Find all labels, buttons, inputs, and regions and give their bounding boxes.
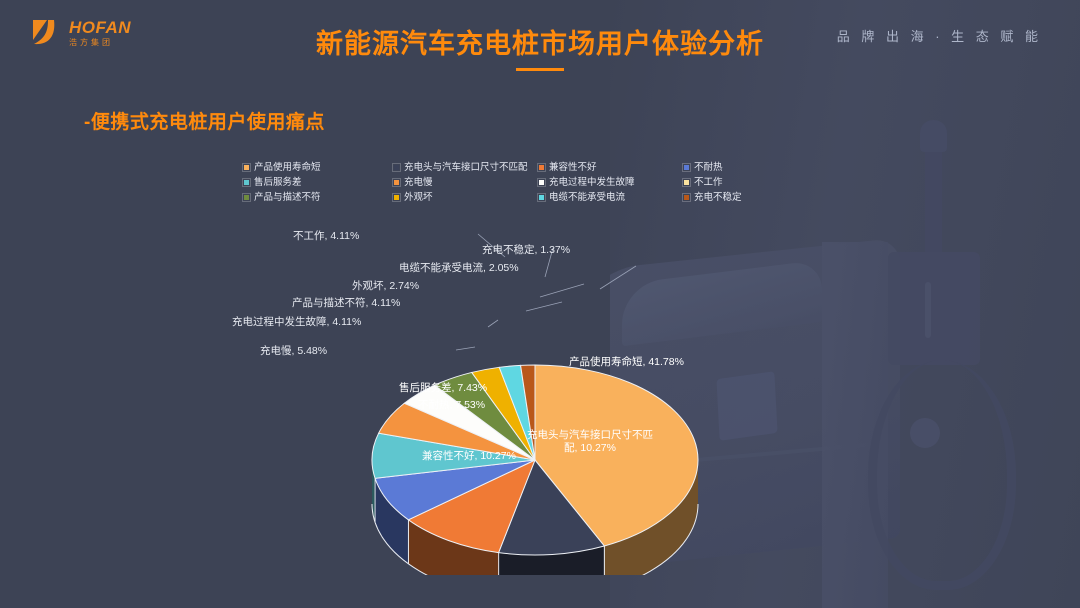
pie-slice-wall (384, 496, 385, 542)
pie-slice-wall (428, 532, 430, 575)
legend-item-label: 外观坏 (404, 190, 433, 205)
pie-slice-wall (439, 537, 441, 575)
legend-item[interactable]: 产品使用寿命短 (243, 160, 393, 175)
pie-slice-wall (619, 541, 621, 575)
legend-swatch-icon (683, 164, 690, 171)
label-chongdiantou-line1: 充电头与汽车接口尺寸不匹 (527, 429, 653, 441)
pie-slice-wall (493, 552, 496, 575)
pie-slice-wall (400, 513, 402, 558)
pie-slice-wall (449, 541, 451, 575)
legend-swatch-icon (538, 179, 545, 186)
pie-slice-wall (387, 500, 388, 545)
leader-line (600, 266, 636, 289)
pie-slice-wall (673, 509, 674, 554)
label-chongdiantou-line2: 配, 10.27% (564, 442, 616, 454)
pie-slice-wall (640, 532, 642, 575)
pie-slice-wall (533, 555, 536, 575)
pie-slice-wall (631, 536, 633, 575)
pie-slice-wall (558, 554, 561, 575)
legend-item-label: 不耐热 (694, 160, 723, 175)
legend-swatch-icon (538, 164, 545, 171)
pie-slice-wall (609, 544, 612, 575)
pie-slice-wall (395, 509, 396, 554)
pie-slice-wall (456, 543, 459, 575)
pie-slice-wall (687, 492, 688, 538)
pie-slice-wall (555, 554, 558, 575)
pie-slice-wall (444, 539, 446, 575)
pie-slice-wall (477, 549, 480, 575)
legend-item[interactable]: 产品与描述不符 (243, 190, 393, 205)
pie-slice-wall (665, 516, 667, 561)
pie-slice-wall (490, 551, 493, 575)
legend-item[interactable]: 充电慢 (393, 175, 538, 190)
background-charger-unit (888, 252, 980, 365)
pie-slice-wall (541, 555, 544, 575)
pie-slice-wall (578, 551, 581, 575)
pie-slice-wall (564, 553, 567, 575)
pie-slice-wall (412, 522, 414, 567)
pie-slice-wall (394, 508, 395, 553)
leader-line (456, 347, 475, 350)
legend-item-label: 充电过程中发生故障 (549, 175, 635, 190)
brand-tagline: 品 牌 出 海 · 生 态 赋 能 (837, 26, 1042, 45)
pie-slice-wall (513, 554, 516, 575)
pie-slice-wall (454, 542, 456, 575)
pie-slice-wall (638, 533, 640, 575)
pie-slice-wall (682, 500, 683, 545)
pie-slice-wall (685, 496, 686, 542)
slide-root: HOFAN 浩方集团 新能源汽车充电桩市场用户体验分析 品 牌 出 海 · 生 … (0, 0, 1080, 608)
pie-slice-wall (692, 485, 693, 531)
pie-slice-wall (621, 540, 623, 575)
label-shouhou: 售后服务差, 7.43% (399, 382, 487, 395)
pie-slice-wall (678, 505, 679, 550)
pie-slice-wall (589, 549, 592, 575)
pie-slice-wall (380, 489, 381, 535)
pie-slice-wall (383, 494, 384, 540)
pie-slice-wall (561, 554, 564, 575)
pie-slice-wall (518, 555, 521, 575)
pie-slice-wall (464, 545, 467, 575)
label-miaoshu: 产品与描述不符, 4.11% (292, 297, 400, 310)
pie-slice-wall (624, 539, 626, 575)
pie-slice-wall (381, 491, 382, 537)
pie-slice-wall (580, 551, 583, 575)
pie-slice-wall (606, 545, 609, 575)
pie-slice-wall (410, 521, 412, 566)
pie-slice-wall (583, 550, 586, 575)
pie-slice-wall (377, 483, 378, 529)
pie-chart-svg (300, 215, 770, 575)
pie-slice-wall (680, 502, 681, 547)
pie-slice-wall (689, 489, 690, 535)
pie-slice-wall (567, 553, 570, 575)
pie-slice-wall (385, 497, 386, 543)
legend-item-label: 充电头与汽车接口尺寸不匹配 (404, 160, 528, 175)
pie-slice-wall (635, 534, 637, 575)
pie-slice-wall (502, 553, 505, 575)
legend-item[interactable]: 售后服务差 (243, 175, 393, 190)
pie-slice-wall (386, 499, 387, 545)
label-buhgongzuo: 不工作, 4.11% (293, 230, 359, 243)
pie-slice-wall (521, 555, 524, 575)
pie-slice-wall (504, 553, 507, 575)
pie-slice-wall (376, 481, 377, 527)
legend-item-label: 不工作 (694, 175, 723, 190)
pie-slice-wall (612, 543, 615, 575)
background-cable-connector (910, 418, 940, 448)
pie-slice-wall (692, 483, 693, 529)
pie-slice-wall (646, 528, 648, 573)
pie-slice-wall (499, 553, 502, 575)
pie-slice-wall (547, 555, 550, 575)
label-bunaire: 不耐热, 7.53% (418, 399, 485, 412)
pie-slice-wall (669, 513, 671, 558)
pie-slice-wall (416, 525, 418, 570)
pie-slice-wall (466, 546, 469, 575)
pie-slice-wall (389, 502, 390, 547)
pie-slice-wall (524, 555, 527, 575)
label-waiguanhuai: 外观坏, 2.74% (352, 280, 419, 293)
leader-line (526, 302, 562, 311)
pie-slice-wall (679, 503, 680, 548)
legend-item[interactable]: 充电过程中发生故障 (538, 175, 683, 190)
pie-slice-wall (403, 516, 405, 561)
pie-slice-wall (672, 510, 674, 555)
pie-slice-wall (667, 514, 669, 559)
pie-slice-wall (690, 488, 691, 534)
legend-swatch-icon (538, 194, 545, 201)
pie-slice-wall (684, 497, 685, 543)
legend-item-label: 电缆不能承受电流 (549, 190, 625, 205)
legend-item[interactable]: 充电不稳定 (683, 190, 803, 205)
background-charger-head (920, 120, 947, 152)
pie-slice-wall (656, 522, 658, 567)
pie-slice-wall (430, 533, 432, 575)
pie-slice-wall (426, 531, 428, 575)
pie-slice-wall (642, 531, 644, 575)
pie-slice-wall (663, 517, 665, 562)
pie-slice-wall (378, 485, 379, 531)
pie-slice-wall (446, 540, 448, 575)
label-dianlan: 电缆不能承受电流, 2.05% (399, 262, 519, 275)
pie-slice-wall (569, 553, 572, 575)
legend-swatch-icon (683, 179, 690, 186)
pie-slice-wall (676, 506, 677, 551)
pie-slice-wall (474, 548, 477, 575)
pie-slice-wall (516, 554, 519, 575)
pie-slice-wall (418, 526, 420, 571)
pie-slice-wall (405, 517, 407, 562)
legend-item[interactable]: 兼容性不好 (538, 160, 683, 175)
pie-slice-wall (397, 510, 399, 555)
pie-slice-wall (379, 488, 380, 534)
pie-chart (300, 215, 770, 575)
pie-slice-wall (402, 515, 404, 560)
legend-item-label: 充电不稳定 (694, 190, 742, 205)
pie-slice-wall (550, 554, 553, 575)
pie-slice-wall (422, 528, 424, 573)
pie-slice-wall (575, 552, 578, 575)
pie-slice-wall (686, 494, 687, 540)
legend-item-label: 售后服务差 (254, 175, 302, 190)
label-chongdiantou: 充电头与汽车接口尺寸不匹 配, 10.27% (527, 429, 653, 455)
pie-slice-wall (660, 520, 662, 565)
pie-slice-wall (626, 538, 628, 575)
pie-slice-wall (507, 554, 510, 575)
pie-slice-wall (424, 530, 426, 575)
label-jianrongxing: 兼容性不好, 10.27% (422, 450, 516, 463)
pie-slice-wall (482, 550, 485, 575)
pie-slice-wall (459, 544, 462, 575)
legend-swatch-icon (393, 164, 400, 171)
pie-slice-wall (691, 486, 692, 532)
pie-slice-wall (650, 526, 652, 571)
legend-item-label: 产品使用寿命短 (254, 160, 321, 175)
label-chongdianman: 充电慢, 5.48% (260, 345, 327, 358)
legend-item-label: 充电慢 (404, 175, 433, 190)
pie-slice-wall (420, 527, 422, 572)
pie-slice-wall (695, 476, 696, 522)
pie-slice-wall (599, 547, 602, 575)
pie-slice-wall (376, 480, 377, 526)
pie-slice-wall (596, 547, 599, 575)
legend-swatch-icon (393, 194, 400, 201)
pie-slice-wall (535, 555, 538, 575)
label-buwending: 充电不稳定, 1.37% (482, 244, 570, 257)
legend-item[interactable]: 外观坏 (393, 190, 538, 205)
pie-slice-wall (442, 538, 444, 575)
pie-slice-wall (472, 548, 475, 575)
pie-slice-wall (538, 555, 541, 575)
pie-slice-wall (683, 499, 684, 545)
leader-line (488, 320, 498, 327)
pie-slice-wall (628, 537, 630, 575)
legend-item[interactable]: 充电头与汽车接口尺寸不匹配 (393, 160, 538, 175)
pie-slice-wall (461, 545, 464, 575)
pie-slice-wall (398, 512, 400, 557)
legend-item-label: 兼容性不好 (549, 160, 597, 175)
pie-slice-wall (694, 480, 695, 526)
pie-slice-wall (485, 550, 488, 575)
pie-slice-wall (594, 548, 597, 575)
chart-legend: 产品使用寿命短充电头与汽车接口尺寸不匹配兼容性不好不耐热售后服务差充电慢充电过程… (243, 160, 763, 205)
pie-slice-wall (648, 527, 650, 572)
pie-slice-wall (670, 512, 672, 557)
pie-slice-wall (662, 518, 664, 563)
legend-swatch-icon (243, 164, 250, 171)
pie-slice-wall (527, 555, 530, 575)
legend-item[interactable]: 不工作 (683, 175, 803, 190)
background-charging-cable (868, 360, 1016, 590)
pie-slice-wall (644, 529, 646, 574)
pie-slice-wall (510, 554, 513, 575)
pie-slice-wall (414, 524, 416, 569)
pie-slice-wall (451, 542, 453, 575)
legend-swatch-icon (393, 179, 400, 186)
pie-slice-wall (688, 491, 689, 537)
pie-slice-wall (633, 535, 635, 575)
pie-slice-wall (391, 505, 392, 550)
pie-slice-wall (591, 549, 594, 575)
pie-slice-wall (390, 503, 391, 548)
pie-slice-wall (553, 554, 556, 575)
pie-slice-wall (654, 524, 656, 569)
legend-item[interactable]: 不耐热 (683, 160, 803, 175)
pie-slice-wall (658, 521, 660, 566)
pie-slice-wall (614, 542, 616, 575)
legend-item[interactable]: 电缆不能承受电流 (538, 190, 683, 205)
pie-slice-wall (675, 508, 676, 553)
pie-slice-wall (480, 549, 483, 575)
legend-swatch-icon (243, 194, 250, 201)
legend-item-label: 产品与描述不符 (254, 190, 321, 205)
background-charger-display (925, 282, 931, 338)
pie-slice-wall (437, 536, 439, 575)
legend-swatch-icon (683, 194, 690, 201)
section-subtitle: -便携式充电桩用户使用痛点 (84, 107, 325, 134)
pie-slice-wall (652, 525, 654, 570)
pie-slice-wall (530, 555, 533, 575)
pie-slice-wall (694, 478, 695, 524)
pie-slice-wall (469, 547, 472, 575)
pie-slice-wall (378, 486, 379, 532)
label-guzhang: 充电过程中发生故障, 4.11% (232, 316, 361, 329)
leader-line (540, 284, 584, 297)
pie-slice-wall (435, 535, 437, 575)
pie-slice-wall (617, 541, 619, 575)
pie-slice-wall (382, 493, 383, 539)
label-shouming: 产品使用寿命短, 41.78% (569, 356, 684, 369)
pie-slice-wall (586, 550, 589, 575)
title-underline-rule (516, 68, 564, 71)
pie-slice-wall (392, 506, 393, 551)
pie-slice-wall (693, 481, 694, 527)
pie-slice-wall (544, 555, 547, 575)
pie-slice-wall (433, 534, 435, 575)
pie-slice-wall (488, 551, 491, 575)
legend-swatch-icon (243, 179, 250, 186)
pie-slice-wall (572, 552, 575, 575)
